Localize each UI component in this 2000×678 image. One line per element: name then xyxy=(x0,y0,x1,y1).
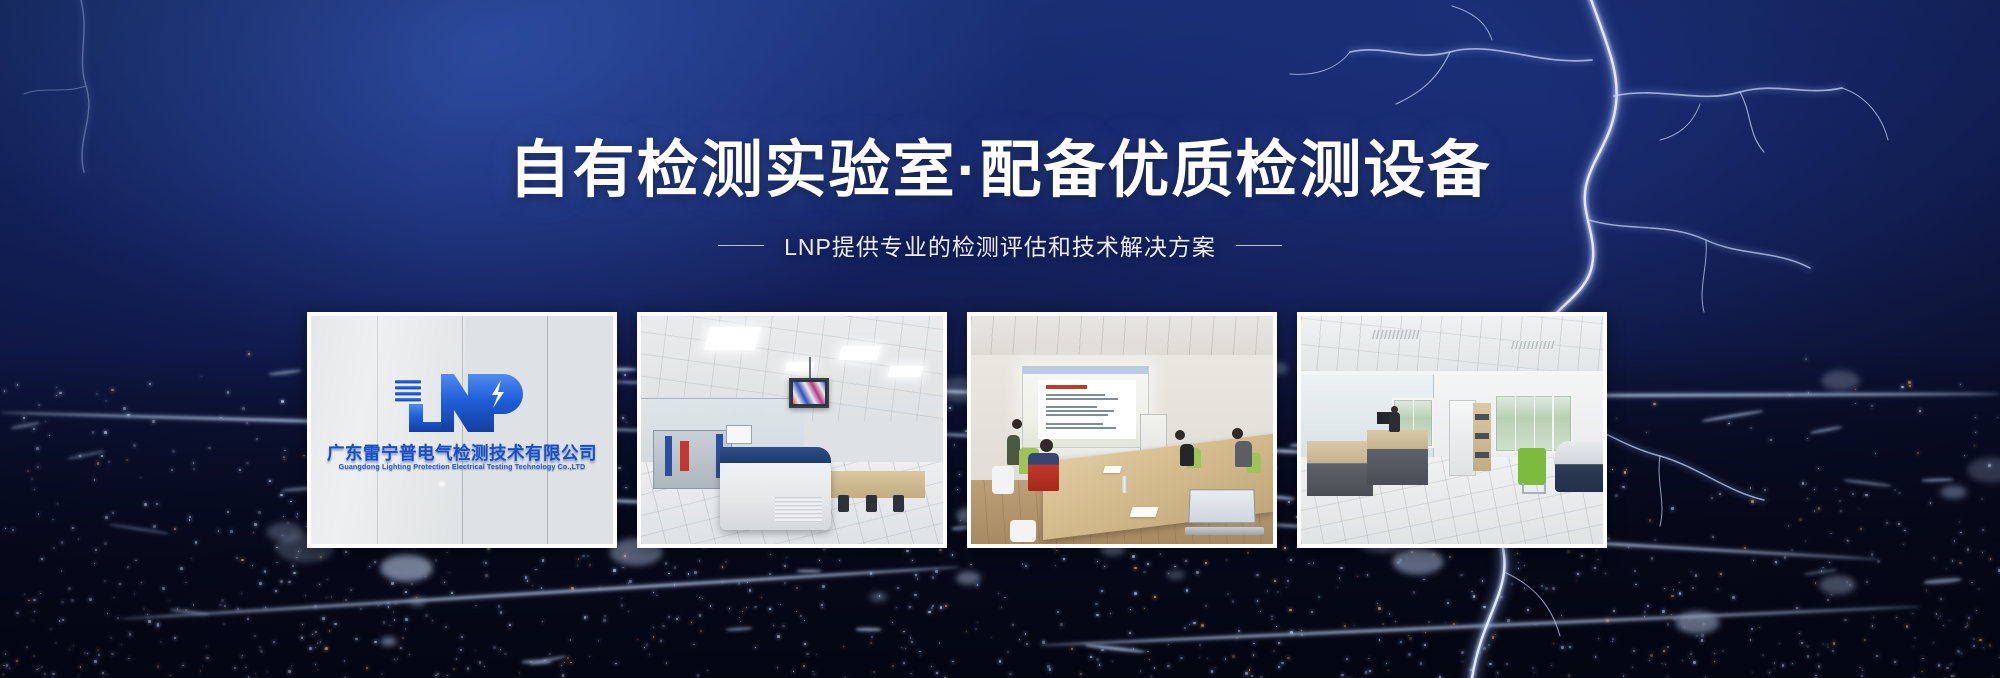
subtitle-row: LNP提供专业的检测评估和技术解决方案 xyxy=(0,228,2000,262)
photo-testing-laboratory xyxy=(641,316,943,544)
photo-meeting-room xyxy=(971,316,1273,544)
hero-text-block: 自有检测实验室·配备优质检测设备 LNP提供专业的检测评估和技术解决方案 xyxy=(0,0,2000,262)
lnp-logo-icon xyxy=(389,368,535,434)
company-name-en: Guangdong Lighting Protection Electrical… xyxy=(311,462,613,471)
seated-worker xyxy=(1389,412,1400,432)
wall-display xyxy=(789,378,829,408)
gallery-card-company-sign[interactable]: 广东雷宁普电气检测技术有限公司 Guangdong Lighting Prote… xyxy=(307,312,617,548)
photo-gallery: 广东雷宁普电气检测技术有限公司 Guangdong Lighting Prote… xyxy=(307,312,1607,548)
reception-counter xyxy=(1555,441,1603,491)
rule-left-decoration xyxy=(718,245,764,246)
photo-office-area xyxy=(1301,316,1603,544)
gallery-card-office-area[interactable] xyxy=(1297,312,1607,548)
page-title: 自有检测实验室·配备优质检测设备 xyxy=(0,140,2000,202)
visitor-chair xyxy=(1518,448,1545,484)
projection-screen xyxy=(1022,366,1149,448)
gallery-card-meeting-room[interactable] xyxy=(967,312,1277,548)
rule-right-decoration xyxy=(1236,245,1282,246)
hero-banner: 自有检测实验室·配备优质检测设备 LNP提供专业的检测评估和技术解决方案 xyxy=(0,0,2000,678)
photo-company-sign: 广东雷宁普电气检测技术有限公司 Guangdong Lighting Prote… xyxy=(311,316,613,544)
page-subtitle: LNP提供专业的检测评估和技术解决方案 xyxy=(784,228,1216,262)
gallery-card-testing-laboratory[interactable] xyxy=(637,312,947,548)
